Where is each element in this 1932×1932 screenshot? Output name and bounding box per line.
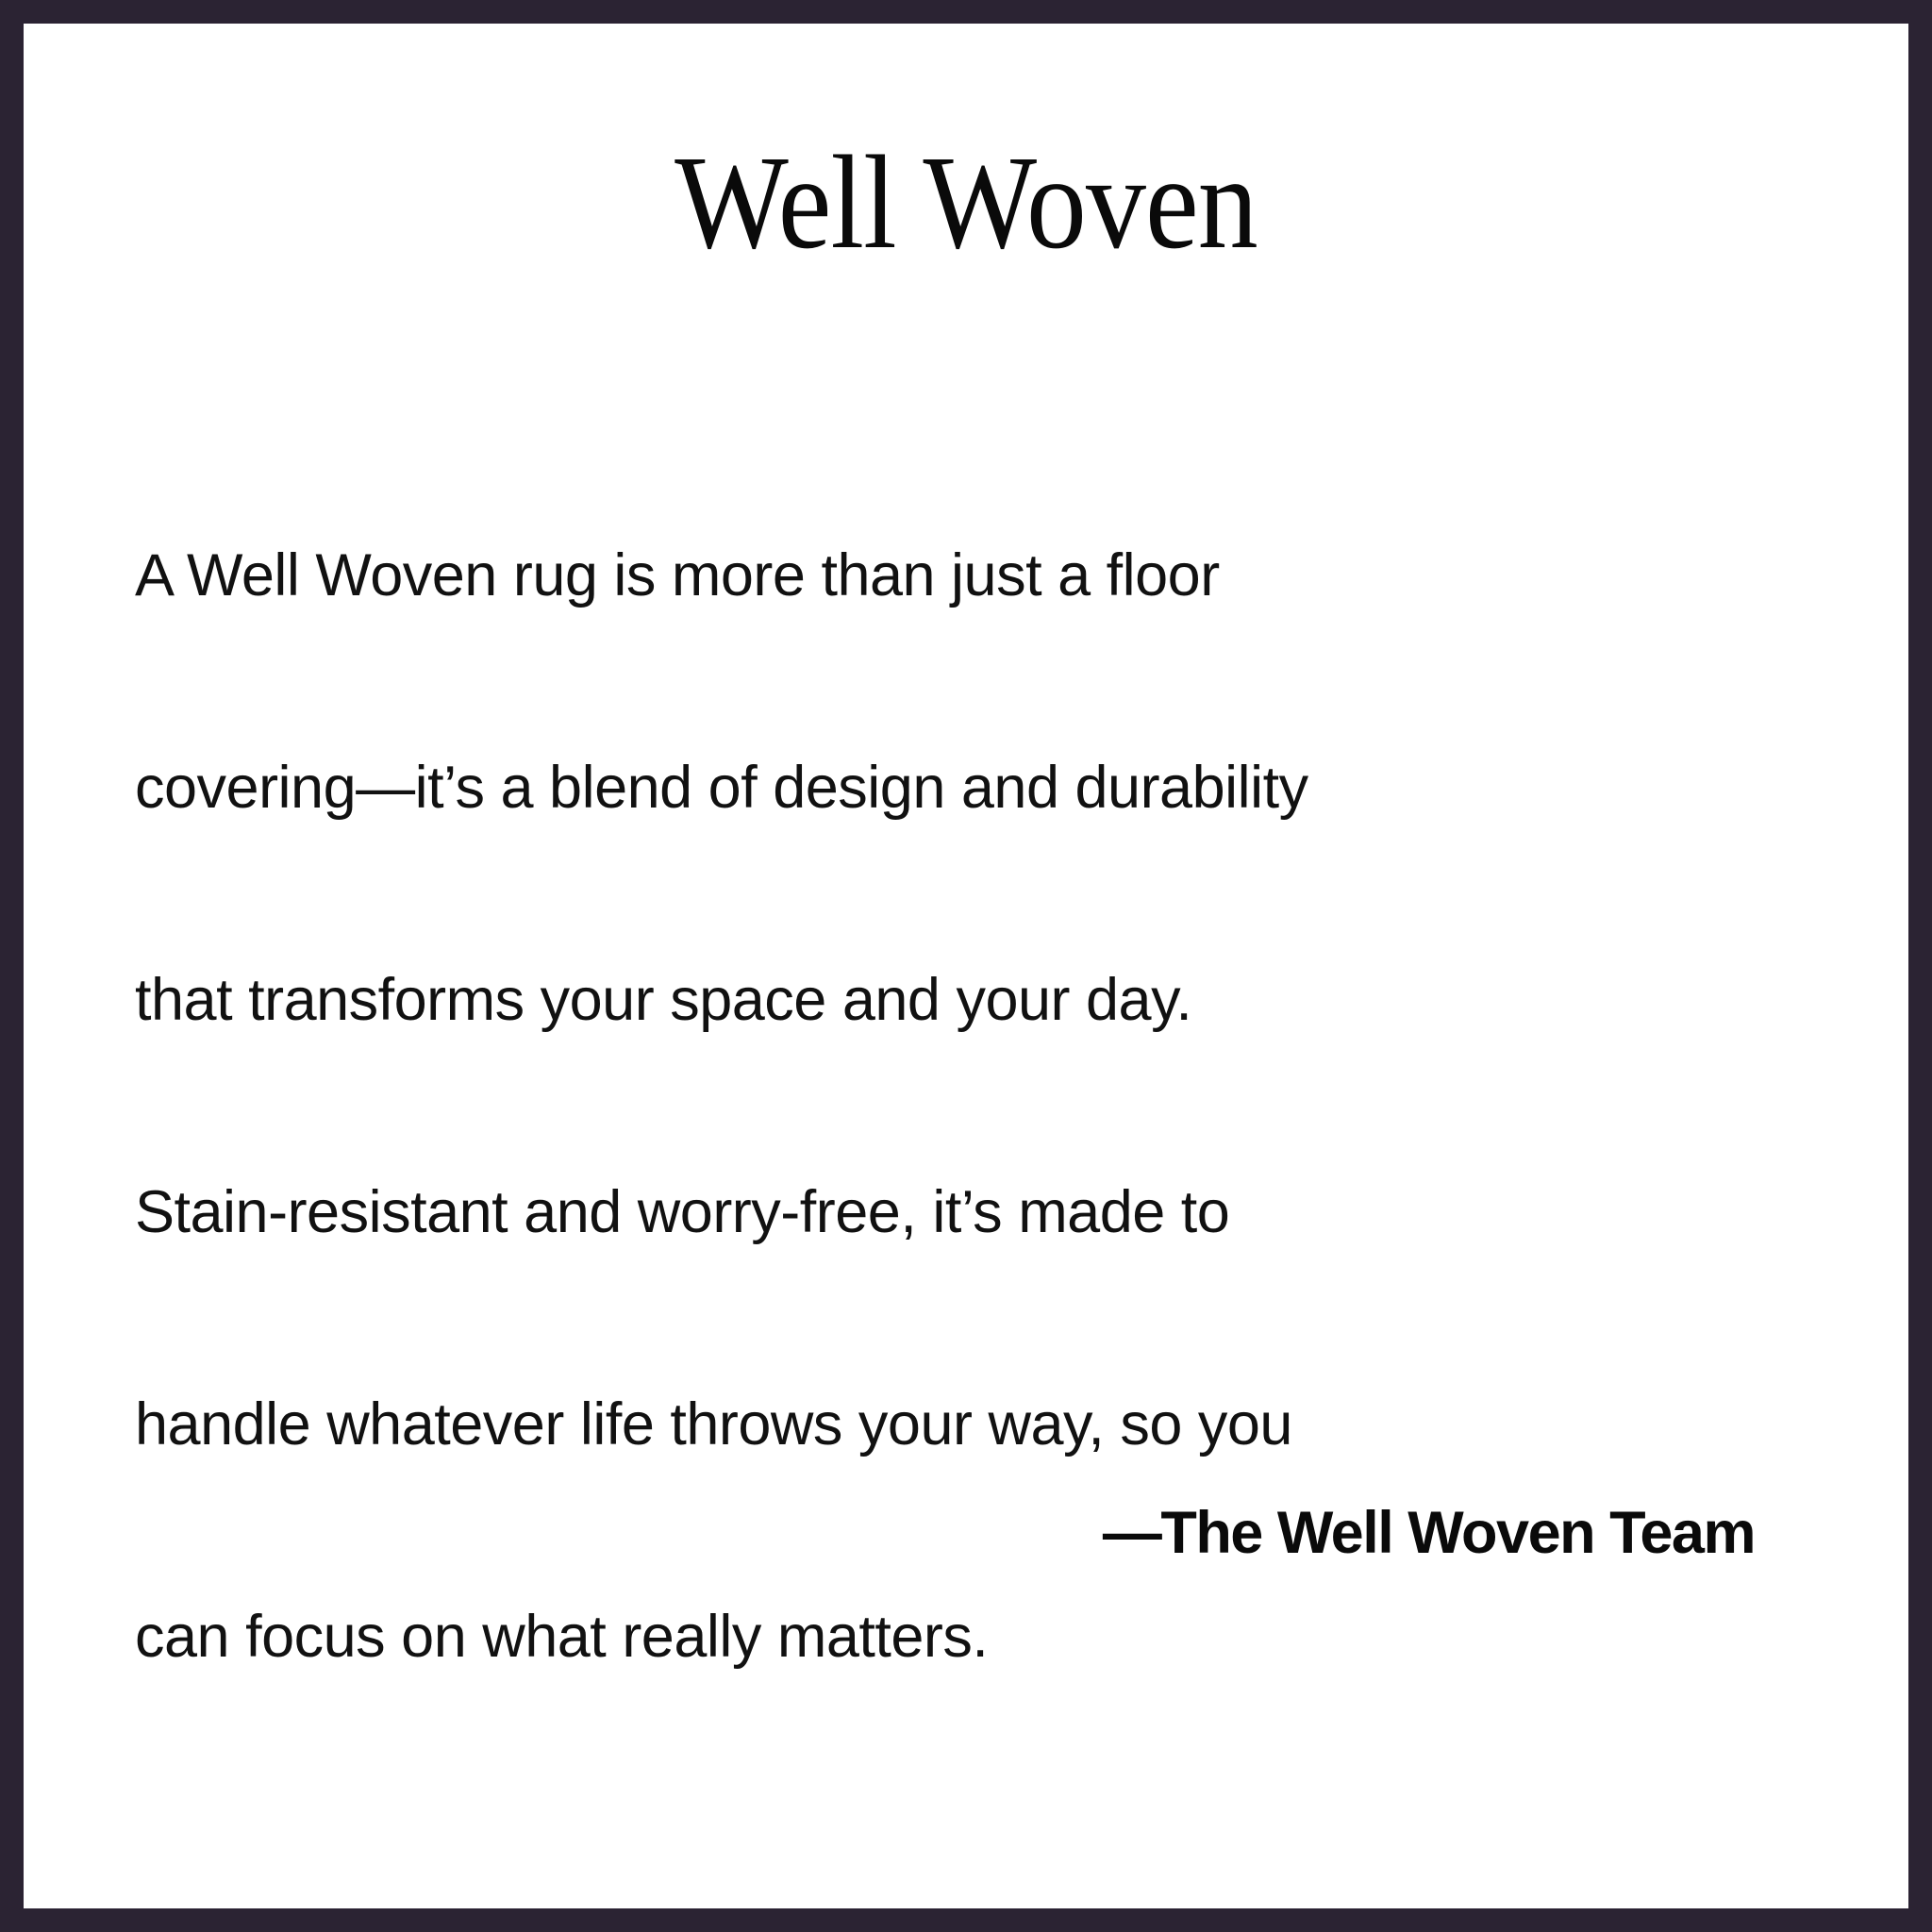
body-line: that transforms your space and your day. — [135, 965, 1786, 1036]
body-line: can focus on what really matters. — [135, 1602, 1786, 1673]
body-line: A Well Woven rug is more than just a flo… — [135, 541, 1786, 611]
body-line: handle whatever life throws your way, so… — [135, 1390, 1786, 1460]
brand-logo-wordmark: Well Woven — [118, 135, 1814, 269]
body-line: Stain-resistant and worry-free, it’s mad… — [135, 1177, 1786, 1248]
signature-line: —The Well Woven Team — [135, 1498, 1755, 1569]
body-line: covering—it’s a blend of design and dura… — [135, 753, 1786, 824]
body-paragraph-main: A Well Woven rug is more than just a flo… — [135, 399, 1786, 1814]
letter-body: A Well Woven rug is more than just a flo… — [135, 399, 1786, 1908]
letter-card: Well Woven A Well Woven rug is more than… — [24, 24, 1908, 1908]
email-card-page: Well Woven A Well Woven rug is more than… — [0, 0, 1932, 1932]
